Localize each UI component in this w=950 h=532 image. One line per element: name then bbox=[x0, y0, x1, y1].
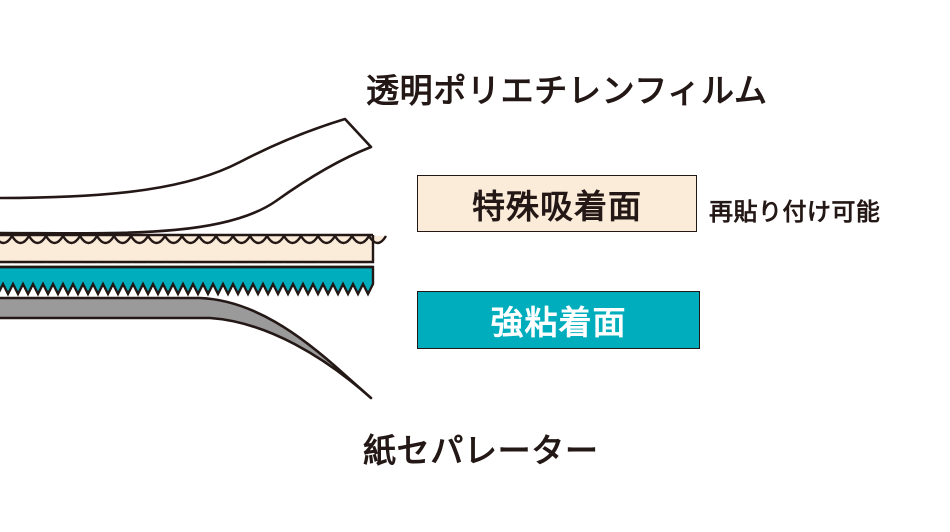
layer-transparent-film bbox=[0, 119, 371, 233]
strong-adhesive-surface-label: 強粘着面 bbox=[491, 296, 627, 344]
reattachable-note: 再貼り付け可能 bbox=[709, 192, 880, 227]
layer-strong-adhesive bbox=[0, 267, 373, 294]
layer-special-suction bbox=[0, 235, 386, 267]
layer-paper-separator bbox=[0, 298, 371, 398]
paper-separator-label: 紙セパレーター bbox=[363, 424, 599, 472]
special-suction-surface-label: 特殊吸着面 bbox=[472, 180, 642, 228]
strong-adhesive-surface-callout: 強粘着面 bbox=[417, 291, 700, 349]
transparent-film-label: 透明ポリエチレンフィルム bbox=[366, 64, 768, 112]
special-suction-surface-callout: 特殊吸着面 bbox=[417, 175, 697, 232]
diagram-canvas: 透明ポリエチレンフィルム 特殊吸着面 再貼り付け可能 強粘着面 紙セパレーター bbox=[0, 0, 950, 532]
